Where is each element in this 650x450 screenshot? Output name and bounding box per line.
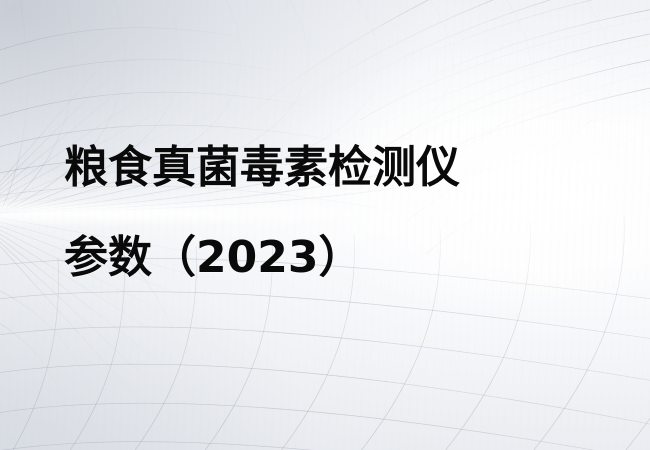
title-banner: 粮食真菌毒素检测仪 参数（2023） <box>0 0 650 450</box>
page-title: 粮食真菌毒素检测仪 参数（2023） <box>64 142 584 284</box>
title-line-secondary: 参数（2023） <box>64 232 584 284</box>
title-line-primary: 粮食真菌毒素检测仪 <box>64 142 584 194</box>
